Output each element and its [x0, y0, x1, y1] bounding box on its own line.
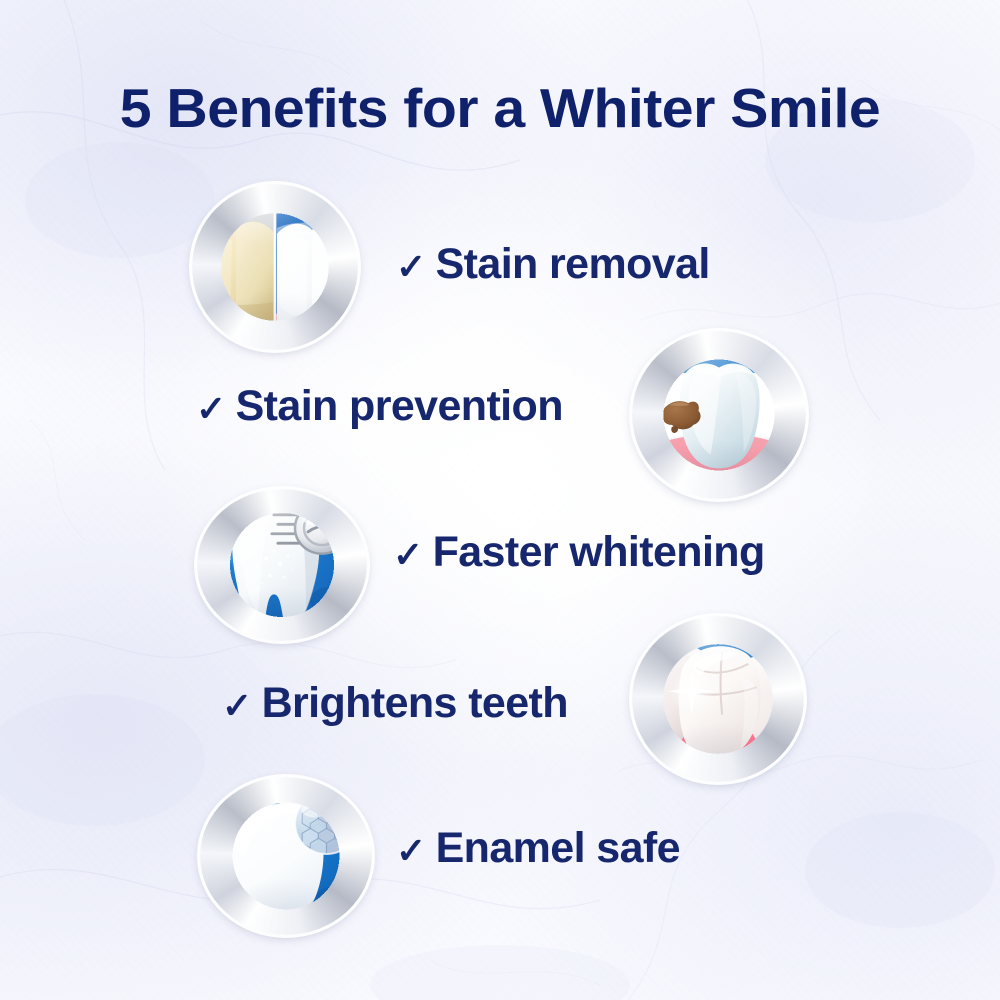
benefit-label-stain-prevention: ✓ Stain prevention — [196, 382, 563, 431]
benefit-label-stain-removal: ✓ Stain removal — [396, 240, 710, 289]
bright-teeth-sparkle-art — [637, 621, 799, 777]
before-after-tooth-icon — [192, 184, 358, 350]
enamel-honeycomb-art — [205, 782, 367, 930]
polishing-buffer — [295, 503, 349, 554]
benefit-text-brightens-teeth: Brightens teeth — [262, 679, 568, 728]
benefit-label-brightens-teeth: ✓ Brightens teeth — [222, 679, 568, 728]
benefit-label-faster-whitening: ✓ Faster whitening — [393, 528, 765, 577]
benefit-text-enamel-safe: Enamel safe — [436, 824, 680, 873]
check-icon-faster-whitening: ✓ — [393, 537, 423, 573]
polishing-tool-tooth-icon — [197, 489, 367, 641]
polishing-tool-tooth-art — [202, 494, 362, 636]
stain-repelling-tooth-art — [637, 336, 801, 494]
stain-repelling-tooth-icon — [632, 331, 806, 499]
benefits-infographic: 5 Benefits for a Whiter Smile — [0, 0, 1000, 1000]
bright-teeth-sparkle-icon — [632, 616, 804, 782]
benefit-text-stain-removal: Stain removal — [436, 240, 710, 289]
benefit-text-stain-prevention: Stain prevention — [236, 382, 563, 431]
enamel-honeycomb-icon — [200, 777, 372, 935]
check-icon-stain-removal: ✓ — [396, 249, 426, 285]
benefit-label-enamel-safe: ✓ Enamel safe — [396, 824, 680, 873]
check-icon-brightens-teeth: ✓ — [222, 688, 252, 724]
before-after-tooth-art — [197, 189, 353, 345]
check-icon-enamel-safe: ✓ — [396, 833, 426, 869]
page-title: 5 Benefits for a Whiter Smile — [0, 76, 1000, 140]
benefit-text-faster-whitening: Faster whitening — [433, 528, 765, 577]
check-icon-stain-prevention: ✓ — [196, 391, 226, 427]
